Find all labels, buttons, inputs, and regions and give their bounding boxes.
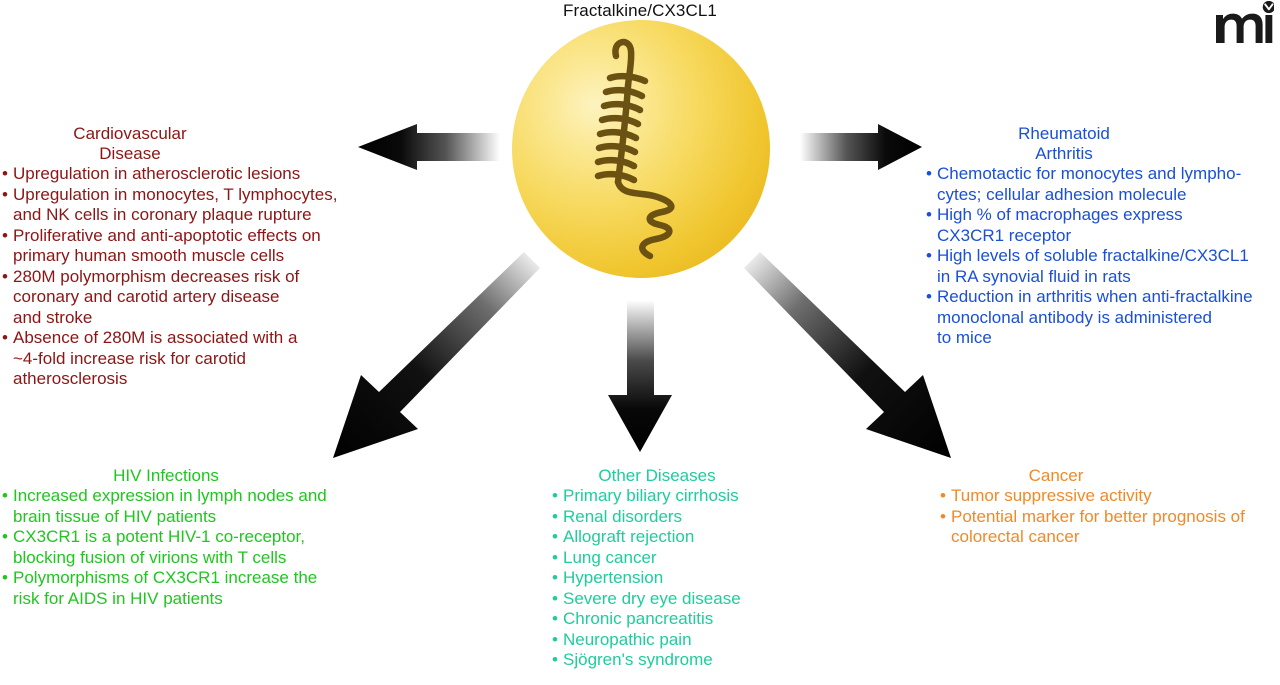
- list-item: Absence of 280M is associated with a ~4-…: [2, 328, 354, 390]
- list-item: Allograft rejection: [552, 527, 824, 548]
- list-item: Lung cancer: [552, 548, 824, 569]
- list-item: Upregulation in atherosclerotic lesions: [2, 164, 354, 185]
- list-item: Sjögren's syndrome: [552, 650, 824, 671]
- list-item: Chronic pancreatitis: [552, 609, 824, 630]
- brand-logo-icon: [1214, 1, 1274, 45]
- list-item: Reduction in arthritis when anti-fractal…: [926, 287, 1278, 349]
- branch-rheumatoid-arthritis: Rheumatoid Arthritis Chemotactic for mon…: [926, 124, 1278, 349]
- branch-heading-cancer: Cancer: [926, 466, 1274, 486]
- fractalkine-protein-sphere: [512, 20, 770, 278]
- branch-cardiovascular-disease: Cardiovascular Disease Upregulation in a…: [2, 124, 354, 390]
- branch-list-rheumatoid: Chemotactic for monocytes and lympho- cy…: [926, 164, 1278, 349]
- branch-heading-hiv: HIV Infections: [2, 466, 350, 486]
- list-item: Potential marker for better prognosis of…: [940, 507, 1274, 548]
- arrow-to-rheumatoid: [800, 124, 922, 170]
- list-item: Tumor suppressive activity: [940, 486, 1274, 507]
- diagram-canvas: Fractalkine/CX3CL1: [0, 0, 1280, 685]
- arrow-to-other-diseases: [608, 300, 672, 452]
- list-item: Upregulation in monocytes, T lymphocytes…: [2, 185, 354, 226]
- arrow-to-cancer: [744, 252, 951, 458]
- list-item: Polymorphisms of CX3CR1 increase the ris…: [2, 568, 350, 609]
- branch-list-cancer: Tumor suppressive activity Potential mar…: [926, 486, 1274, 548]
- list-item: Renal disorders: [552, 507, 824, 528]
- arrow-to-cardiovascular: [358, 124, 500, 170]
- arrow-to-hiv: [333, 252, 540, 458]
- page-title: Fractalkine/CX3CL1: [0, 1, 1280, 21]
- branch-cancer: Cancer Tumor suppressive activity Potent…: [926, 466, 1274, 548]
- branch-list-cardiovascular: Upregulation in atherosclerotic lesions …: [2, 164, 354, 390]
- branch-hiv-infections: HIV Infections Increased expression in l…: [2, 466, 350, 609]
- list-item: Neuropathic pain: [552, 630, 824, 651]
- branch-heading-cardiovascular: Cardiovascular Disease: [2, 124, 354, 164]
- branch-list-hiv: Increased expression in lymph nodes and …: [2, 486, 350, 609]
- list-item: Chemotactic for monocytes and lympho- cy…: [926, 164, 1278, 205]
- list-item: Hypertension: [552, 568, 824, 589]
- list-item: High levels of soluble fractalkine/CX3CL…: [926, 246, 1278, 287]
- branch-list-other: Primary biliary cirrhosis Renal disorder…: [534, 486, 824, 671]
- branch-other-diseases: Other Diseases Primary biliary cirrhosis…: [534, 466, 824, 671]
- protein-ribbon-icon: [512, 20, 770, 278]
- branch-heading-rheumatoid: Rheumatoid Arthritis: [926, 124, 1278, 164]
- list-item: Increased expression in lymph nodes and …: [2, 486, 350, 527]
- branch-heading-other: Other Diseases: [534, 466, 824, 486]
- list-item: 280M polymorphism decreases risk of coro…: [2, 267, 354, 329]
- list-item: Severe dry eye disease: [552, 589, 824, 610]
- list-item: Proliferative and anti-apoptotic effects…: [2, 226, 354, 267]
- list-item: CX3CR1 is a potent HIV-1 co-receptor, bl…: [2, 527, 350, 568]
- list-item: Primary biliary cirrhosis: [552, 486, 824, 507]
- list-item: High % of macrophages express CX3CR1 rec…: [926, 205, 1278, 246]
